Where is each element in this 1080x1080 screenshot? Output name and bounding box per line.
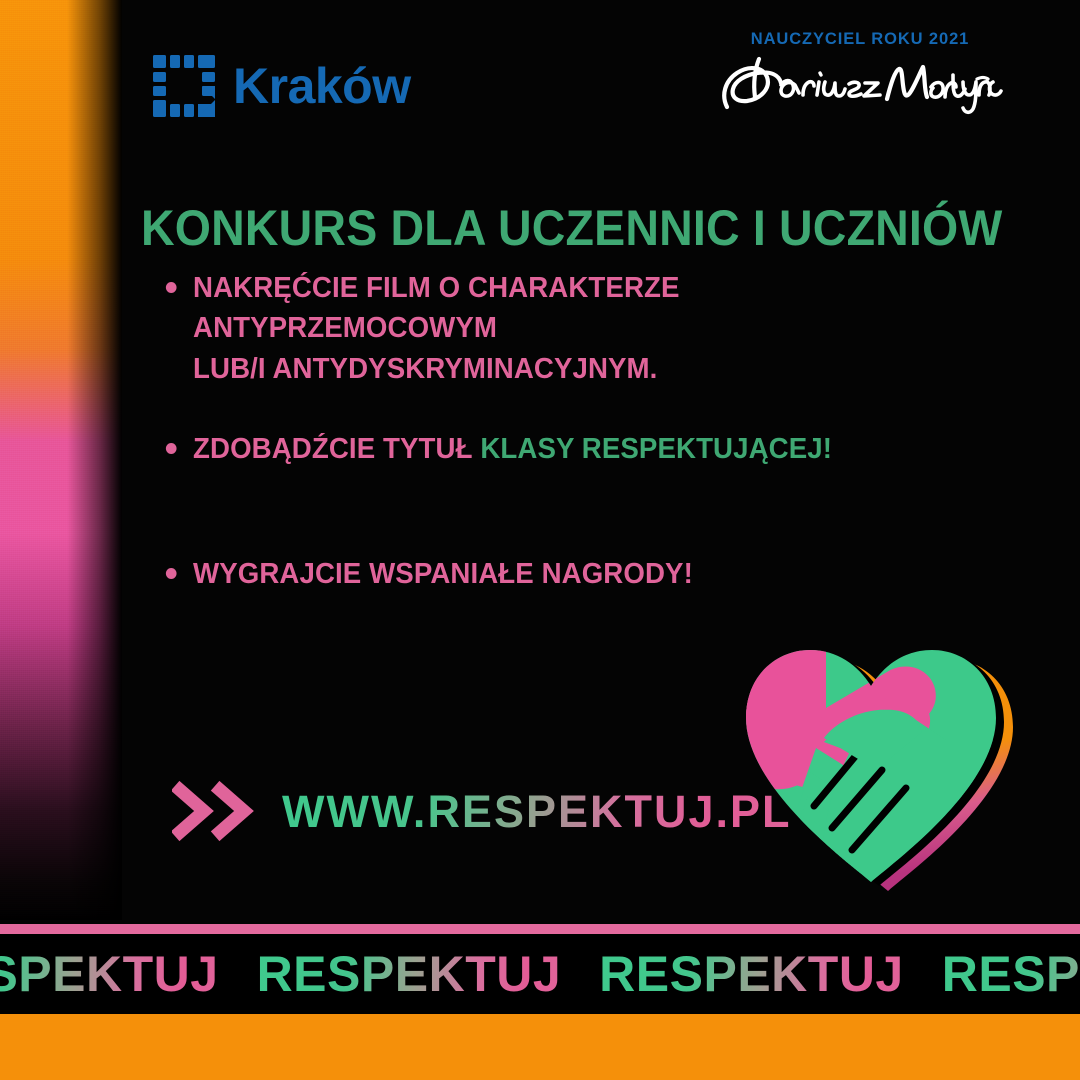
- bullet-text: WYGRAJCIE WSPANIAŁE NAGRODY!: [193, 558, 693, 590]
- krakow-logo[interactable]: Kraków: [153, 55, 411, 117]
- website-row[interactable]: WWW.RESPEKTUJ.PL: [172, 780, 792, 842]
- left-gradient-stripe-fade: [0, 0, 122, 920]
- clasped-hands-heart-icon: [706, 620, 1036, 895]
- bullet-item-prizes: WYGRAJCIE WSPANIAŁE NAGRODY!: [162, 554, 938, 594]
- krakow-wordmark: Kraków: [233, 61, 411, 111]
- banner-word: RESPEKTUJ: [257, 949, 562, 999]
- bullet-line: LUB/I ANTYDYSKRYMINACYJNYM.: [193, 349, 938, 389]
- bullet-text-pink: ZDOBĄDŹCIE TYTUŁ: [193, 433, 480, 465]
- banner-track: RESPEKTUJ RESPEKTUJ RESPEKTUJ RESPEKTUJ …: [0, 934, 1080, 1014]
- poster-canvas: Kraków NAUCZYCIEL ROKU 2021: [0, 0, 1080, 1080]
- bullet-line: NAKRĘĆCIE FILM O CHARAKTERZE: [193, 268, 938, 308]
- orange-footer-bar: [0, 1014, 1080, 1080]
- bullet-line: ANTYPRZEMOCOWYM: [193, 308, 938, 348]
- bullet-dot-icon: [166, 443, 177, 454]
- bullet-dot-icon: [166, 282, 177, 293]
- bullet-text-green: KLASY RESPEKTUJĄCEJ!: [480, 433, 832, 465]
- banner-word: RESPEKTUJ: [599, 949, 904, 999]
- award-title: NAUCZYCIEL ROKU 2021: [700, 30, 1020, 49]
- pink-divider-rule: [0, 924, 1080, 934]
- bullet-dot-icon: [166, 568, 177, 579]
- handwritten-signature-icon: [700, 51, 1020, 115]
- page-title: KONKURS DLA UCZENNIC I UCZNIÓW: [141, 202, 959, 255]
- bullet-item-film: NAKRĘĆCIE FILM O CHARAKTERZE ANTYPRZEMOC…: [162, 268, 938, 389]
- respektuj-banner: RESPEKTUJ RESPEKTUJ RESPEKTUJ RESPEKTUJ …: [0, 934, 1080, 1014]
- double-chevron-right-icon: [172, 780, 258, 842]
- bullet-list: NAKRĘĆCIE FILM O CHARAKTERZE ANTYPRZEMOC…: [162, 268, 962, 594]
- banner-word: RESPEKTUJ: [942, 949, 1080, 999]
- bullet-item-title: ZDOBĄDŹCIE TYTUŁ KLASY RESPEKTUJĄCEJ!: [162, 429, 938, 469]
- krakow-square-icon: [153, 55, 215, 117]
- banner-word: RESPEKTUJ: [0, 949, 219, 999]
- award-block: NAUCZYCIEL ROKU 2021: [700, 30, 1020, 115]
